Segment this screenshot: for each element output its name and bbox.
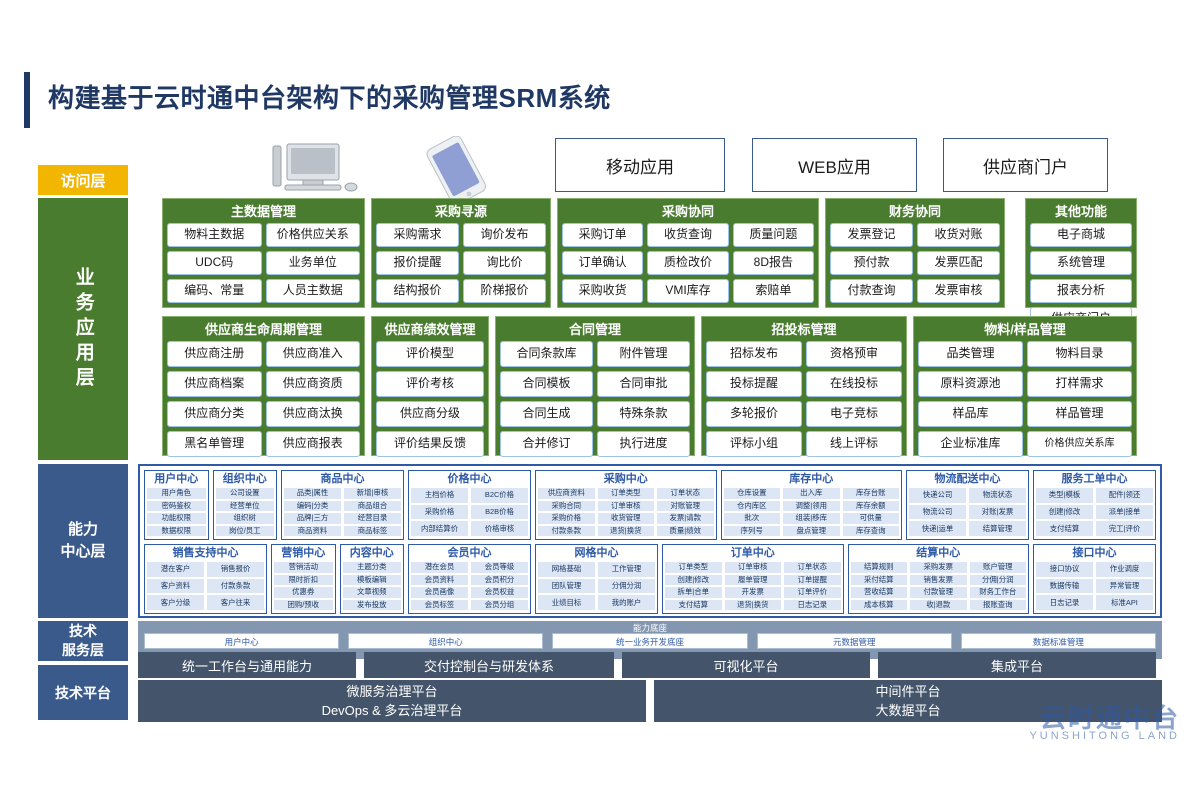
capability-column: 接口协议数据传输日志记录 (1036, 562, 1093, 610)
capability-item[interactable]: 订单类型 (598, 488, 655, 499)
business-item[interactable]: 评价考核 (376, 371, 484, 397)
capability-card: 网格中心网格基础团队管理业绩目标工作管理分佣分润我的账户 (535, 544, 658, 614)
capability-item[interactable]: 组装|移库 (783, 513, 840, 524)
business-item[interactable]: 特殊条款 (597, 401, 690, 427)
business-item[interactable]: 合同模板 (500, 371, 593, 397)
capability-item[interactable]: 工作管理 (598, 562, 655, 577)
capability-item[interactable]: 用户角色 (147, 488, 206, 499)
capability-item[interactable]: 功能权限 (147, 513, 206, 524)
capability-item[interactable]: 退货|换货 (598, 526, 655, 537)
business-panel-grid: 合同条款库附件管理合同模板合同审批合同生成特殊条款合并修订执行进度 (500, 341, 690, 457)
business-panel-grid: 品类管理物料目录原料资源池打样需求样品库样品管理企业标准库价格供应关系库 (918, 341, 1132, 457)
business-item[interactable]: 询比价 (463, 251, 546, 275)
capability-item[interactable]: 序列号 (724, 526, 781, 537)
capability-card-columns: 订单类型创建|修改拆单|合单支付结算订单审核履单管理开发票退货|换货订单状态订单… (665, 562, 841, 610)
capability-card: 物流配送中心快递公司物流公司快递|运单物流状态对账|发票结算管理 (906, 470, 1029, 540)
capability-item[interactable]: 订单状态 (784, 562, 841, 573)
capability-column: B2C价格B2B价格价格审核 (471, 488, 528, 536)
capability-item[interactable]: 对账管理 (657, 501, 714, 512)
capability-column: 销售报价付款条款客户往来 (207, 562, 264, 610)
business-item[interactable]: 评标小组 (706, 431, 802, 457)
capability-item[interactable]: 作业调度 (1096, 562, 1153, 577)
layer-label-tech-service: 技术 服务层 (38, 621, 128, 661)
capability-card: 采购中心供应商资料采购合同采购价格付款条款订单类型订单审核收货管理退货|换货订单… (535, 470, 717, 540)
capability-item[interactable]: 订单提醒 (784, 575, 841, 586)
capability-card: 接口中心接口协议数据传输日志记录作业调度异常管理标准API (1033, 544, 1156, 614)
capability-column: 会员等级会员积分会员权益会员分组 (471, 562, 528, 610)
capability-item[interactable]: 销售报价 (207, 562, 264, 577)
capability-item[interactable]: 采购发票 (910, 562, 967, 573)
tech-service-item[interactable]: 元数据管理 (757, 633, 952, 649)
capability-item[interactable]: 结算规则 (851, 562, 908, 573)
capability-item[interactable]: 数据传输 (1036, 579, 1093, 594)
layer-label-tech-service-line1: 技术 (62, 622, 104, 641)
business-panel-grid: 采购需求询价发布报价提醒询比价结构报价阶梯报价 (376, 223, 546, 303)
capability-item[interactable]: 账户管理 (970, 562, 1027, 573)
capability-column: 订单类型创建|修改拆单|合单支付结算 (665, 562, 722, 610)
business-panel-title: 供应商绩效管理 (376, 321, 484, 338)
capability-item[interactable]: 优惠券 (274, 587, 333, 598)
business-item[interactable]: 价格供应关系 (266, 223, 361, 247)
capability-column: 仓库设置仓内库区批次序列号 (724, 488, 781, 536)
tech-service-item[interactable]: 数据标准管理 (961, 633, 1156, 649)
business-item[interactable]: 黑名单管理 (167, 431, 262, 457)
capability-card-columns: 供应商资料采购合同采购价格付款条款订单类型订单审核收货管理退货|换货订单状态对账… (538, 488, 714, 536)
capability-card: 销售支持中心潜在客户客户资料客户分级销售报价付款条款客户往来 (144, 544, 267, 614)
capability-item[interactable]: 配件|领还 (1096, 488, 1153, 503)
business-item[interactable]: 样品库 (918, 401, 1023, 427)
capability-card-columns: 接口协议数据传输日志记录作业调度异常管理标准API (1036, 562, 1153, 610)
capability-card: 商品中心品类|属性编码|分类品牌|三方商品资料新增|审核商品组合经营目录商品标签 (281, 470, 404, 540)
capability-item[interactable]: 主档价格 (411, 488, 468, 503)
capability-card: 库存中心仓库设置仓内库区批次序列号出入库调整|领用组装|移库盘点管理库存台账库存… (721, 470, 903, 540)
business-panel-grid: 供应商注册供应商准入供应商档案供应商资质供应商分类供应商汰换黑名单管理供应商报表 (167, 341, 360, 457)
business-item[interactable]: 企业标准库 (918, 431, 1023, 457)
capability-item[interactable]: 销售发票 (910, 575, 967, 586)
business-panel-grid: 物料主数据价格供应关系UDC码业务单位编码、常量人员主数据 (167, 223, 360, 303)
capability-item[interactable]: 业绩目标 (538, 595, 595, 610)
capability-item[interactable]: 限时折扣 (274, 575, 333, 586)
capability-item[interactable]: 仓库设置 (724, 488, 781, 499)
capability-column: 潜在客户客户资料客户分级 (147, 562, 204, 610)
platform-group-line: 大数据平台 (875, 701, 940, 721)
capability-item[interactable]: 拆单|合单 (665, 587, 722, 598)
capability-item[interactable]: 团队管理 (538, 579, 595, 594)
capability-card: 内容中心主题分类模板编辑文章视频发布投放 (340, 544, 405, 614)
business-item[interactable]: 8D报告 (733, 251, 814, 275)
capability-item[interactable]: 创建|修改 (1036, 505, 1093, 520)
watermark-line1: 云时通中台 (1029, 705, 1180, 731)
capability-item[interactable]: 订单类型 (665, 562, 722, 573)
business-panel-title: 物料/样品管理 (918, 321, 1132, 338)
capability-item[interactable]: 库存余额 (843, 501, 900, 512)
business-item[interactable]: 阶梯报价 (463, 279, 546, 303)
access-app-web-label: WEB应用 (798, 153, 871, 178)
business-item[interactable]: VMI库存 (647, 279, 728, 303)
capability-item[interactable]: 付款条款 (207, 579, 264, 594)
capability-column: 配件|领还派单|接单完工|评价 (1096, 488, 1153, 536)
capability-card-columns: 主题分类模板编辑文章视频发布投放 (343, 562, 402, 610)
capability-item[interactable]: B2C价格 (471, 488, 528, 503)
capability-item[interactable]: 分佣分润 (598, 579, 655, 594)
capability-item[interactable]: 会员资料 (411, 575, 468, 586)
access-app-web[interactable]: WEB应用 (752, 138, 917, 192)
capability-column: 工作管理分佣分润我的账户 (598, 562, 655, 610)
capability-column: 品类|属性编码|分类品牌|三方商品资料 (284, 488, 341, 536)
capability-item[interactable]: 内部结算价 (411, 521, 468, 536)
capability-item[interactable]: 结算管理 (969, 521, 1026, 536)
capability-item[interactable]: 物流公司 (909, 505, 966, 520)
capability-item[interactable]: 退货|换货 (725, 600, 782, 611)
capability-card: 服务工单中心类型|模板创建|修改支付结算配件|领还派单|接单完工|评价 (1033, 470, 1156, 540)
capability-item[interactable]: 可供量 (843, 513, 900, 524)
capability-item[interactable]: 发布投放 (343, 600, 402, 611)
capability-item[interactable]: 客户分级 (147, 595, 204, 610)
business-item[interactable]: 合并修订 (500, 431, 593, 457)
business-item[interactable]: 采购收货 (562, 279, 643, 303)
capability-item[interactable]: 库存台账 (843, 488, 900, 499)
business-item[interactable]: 采购需求 (376, 223, 459, 247)
capability-card: 营销中心营销活动限时折扣优惠券团购/预收 (271, 544, 336, 614)
business-item[interactable]: 评价结果反馈 (376, 431, 484, 457)
business-item[interactable]: 询价发布 (463, 223, 546, 247)
capability-item[interactable]: 日志记录 (1036, 595, 1093, 610)
capability-item[interactable]: 履单管理 (725, 575, 782, 586)
capability-card-columns: 公司设置经营单位组织树岗位/员工 (216, 488, 275, 536)
business-item[interactable]: 供应商准入 (266, 341, 361, 367)
capability-item[interactable]: 出入库 (783, 488, 840, 499)
capability-item[interactable]: 采付结算 (851, 575, 908, 586)
business-item[interactable]: 线上评标 (806, 431, 902, 457)
business-item[interactable]: 打样需求 (1027, 371, 1132, 397)
business-panel-title: 其他功能 (1030, 203, 1132, 220)
capability-item[interactable]: 发票|请款 (657, 513, 714, 524)
business-item[interactable]: 质检改价 (647, 251, 728, 275)
page-title: 构建基于云时通中台架构下的采购管理SRM系统 (48, 78, 611, 115)
platform-group-line: 中间件平台 (875, 682, 940, 702)
capability-item[interactable]: 完工|评价 (1096, 521, 1153, 536)
capability-column: 用户角色密码鉴权功能权限数据权限 (147, 488, 206, 536)
business-panel: 其他功能电子商城系统管理报表分析供应商门户 (1025, 198, 1137, 308)
capability-item[interactable]: 标准API (1096, 595, 1153, 610)
capability-item[interactable]: 订单审核 (725, 562, 782, 573)
business-panel: 供应商生命周期管理供应商注册供应商准入供应商档案供应商资质供应商分类供应商汰换黑… (162, 316, 365, 456)
business-panel-title: 招投标管理 (706, 321, 902, 338)
business-item[interactable]: 预付款 (830, 251, 913, 275)
capability-card-title: 库存中心 (724, 473, 900, 486)
business-item[interactable]: 电子竞标 (806, 401, 902, 427)
business-panel-title: 财务协同 (830, 203, 1000, 220)
capability-column: 出入库调整|领用组装|移库盘点管理 (783, 488, 840, 536)
platform-group-line: DevOps & 多云治理平台 (322, 701, 463, 721)
capability-item[interactable]: 订单评价 (784, 587, 841, 598)
capability-card-title: 组织中心 (216, 473, 275, 486)
capability-item[interactable]: 文章视频 (343, 587, 402, 598)
business-item[interactable]: 收货查询 (647, 223, 728, 247)
business-item[interactable]: 质量问题 (733, 223, 814, 247)
capability-column: 主档价格采购价格内部结算价 (411, 488, 468, 536)
capability-column: 新增|审核商品组合经营目录商品标签 (344, 488, 401, 536)
capability-item[interactable]: 会员分组 (471, 600, 528, 611)
business-item[interactable]: 供应商汰换 (266, 401, 361, 427)
business-item[interactable]: 报表分析 (1030, 279, 1132, 303)
capability-card-title: 销售支持中心 (147, 547, 264, 560)
business-item[interactable]: 供应商分类 (167, 401, 262, 427)
capability-card-title: 营销中心 (274, 547, 333, 560)
desktop-computer-icon (255, 140, 365, 198)
business-item[interactable]: 资格预审 (806, 341, 902, 367)
capability-item[interactable]: 快递公司 (909, 488, 966, 503)
capability-item[interactable]: 日志记录 (784, 600, 841, 611)
capability-item[interactable]: 付款管理 (910, 587, 967, 598)
capability-card-title: 结算中心 (851, 547, 1027, 560)
capability-card-columns: 潜在会员会员资料会员画像会员标签会员等级会员积分会员权益会员分组 (411, 562, 528, 610)
capability-column: 订单类型订单审核收货管理退货|换货 (598, 488, 655, 536)
capability-item[interactable]: 支付结算 (665, 600, 722, 611)
business-item[interactable]: 品类管理 (918, 341, 1023, 367)
capability-column: 网格基础团队管理业绩目标 (538, 562, 595, 610)
capability-item[interactable]: 会员标签 (411, 600, 468, 611)
business-panel-title: 采购协同 (562, 203, 814, 220)
capability-item[interactable]: 分佣|分润 (970, 575, 1027, 586)
capability-item[interactable]: 客户资料 (147, 579, 204, 594)
capability-item[interactable]: 财务工作台 (970, 587, 1027, 598)
capability-column: 采购发票销售发票付款管理收|退款 (910, 562, 967, 610)
capability-item[interactable]: 经营单位 (216, 501, 275, 512)
capability-column: 供应商资料采购合同采购价格付款条款 (538, 488, 595, 536)
business-item[interactable]: 供应商分级 (376, 401, 484, 427)
tech-service-items: 用户中心组织中心统一业务开发底座元数据管理数据标准管理 (144, 633, 1156, 649)
platform-item[interactable]: 可视化平台 (622, 652, 870, 678)
capability-item[interactable]: 异常管理 (1096, 579, 1153, 594)
capability-item[interactable]: 商品组合 (344, 501, 401, 512)
platform-item[interactable]: 集成平台 (878, 652, 1156, 678)
capability-item[interactable]: 会员积分 (471, 575, 528, 586)
capability-item[interactable]: 付款条款 (538, 526, 595, 537)
capability-item[interactable]: 采购合同 (538, 501, 595, 512)
capability-item[interactable]: 新增|审核 (344, 488, 401, 499)
tech-service-item[interactable]: 组织中心 (348, 633, 543, 649)
capability-card-columns: 潜在客户客户资料客户分级销售报价付款条款客户往来 (147, 562, 264, 610)
access-app-mobile-label: 移动应用 (606, 153, 674, 178)
capability-item[interactable]: 快递|运单 (909, 521, 966, 536)
watermark-line2: YUNSHITONG LAND (1029, 731, 1180, 742)
access-app-supplier-portal[interactable]: 供应商门户 (943, 138, 1108, 192)
business-panel: 合同管理合同条款库附件管理合同模板合同审批合同生成特殊条款合并修订执行进度 (495, 316, 695, 456)
capability-item[interactable]: 物流状态 (969, 488, 1026, 503)
capability-center-layer: 用户中心用户角色密码鉴权功能权限数据权限组织中心公司设置经营单位组织树岗位/员工… (138, 464, 1162, 618)
capability-card-columns: 结算规则采付结算营收结算成本核算采购发票销售发票付款管理收|退款账户管理分佣|分… (851, 562, 1027, 610)
business-item[interactable]: 供应商注册 (167, 341, 262, 367)
platform-row-1: 统一工作台与通用能力交付控制台与研发体系可视化平台集成平台 (138, 652, 1162, 678)
business-item[interactable]: 编码、常量 (167, 279, 262, 303)
business-panel-grid: 电子商城系统管理报表分析供应商门户 (1030, 223, 1132, 331)
business-item[interactable]: 供应商档案 (167, 371, 262, 397)
capability-item[interactable]: 仓内库区 (724, 501, 781, 512)
layer-label-capability: 能力 中心层 (38, 464, 128, 618)
business-item[interactable]: 系统管理 (1030, 251, 1132, 275)
business-item[interactable]: 电子商城 (1030, 223, 1132, 247)
business-item[interactable]: 价格供应关系库 (1027, 431, 1132, 457)
business-item[interactable]: 发票匹配 (917, 251, 1000, 275)
layer-label-tech-platform: 技术平台 (38, 665, 128, 720)
capability-item[interactable]: 模板编辑 (343, 575, 402, 586)
capability-item[interactable]: 品牌|三方 (284, 513, 341, 524)
business-item[interactable]: 结构报价 (376, 279, 459, 303)
capability-item[interactable]: 编码|分类 (284, 501, 341, 512)
layer-label-tech-service-line2: 服务层 (62, 641, 104, 660)
business-panel-grid: 招标发布资格预审投标提醒在线投标多轮报价电子竞标评标小组线上评标 (706, 341, 902, 457)
capability-item[interactable]: 商品资料 (284, 526, 341, 537)
capability-item[interactable]: 经营目录 (344, 513, 401, 524)
business-item[interactable]: UDC码 (167, 251, 262, 275)
capability-item[interactable]: 库存查询 (843, 526, 900, 537)
capability-card: 用户中心用户角色密码鉴权功能权限数据权限 (144, 470, 209, 540)
layer-label-access: 访问层 (38, 165, 128, 195)
platform-item[interactable]: 统一工作台与通用能力 (138, 652, 356, 678)
capability-card-title: 商品中心 (284, 473, 401, 486)
business-item[interactable]: 报价提醒 (376, 251, 459, 275)
business-item[interactable]: 投标提醒 (706, 371, 802, 397)
capability-item[interactable]: 收|退款 (910, 600, 967, 611)
platform-group-line: 微服务治理平台 (346, 682, 437, 702)
capability-item[interactable]: 派单|接单 (1096, 505, 1153, 520)
capability-item[interactable]: 支付结算 (1036, 521, 1093, 536)
capability-item[interactable]: 商品标签 (344, 526, 401, 537)
capability-card-columns: 主档价格采购价格内部结算价B2C价格B2B价格价格审核 (411, 488, 528, 536)
capability-item[interactable]: 数据权限 (147, 526, 206, 537)
business-item[interactable]: 索赔单 (733, 279, 814, 303)
capability-item[interactable]: 采购价格 (538, 513, 595, 524)
capability-item[interactable]: 潜在会员 (411, 562, 468, 573)
capability-item[interactable]: B2B价格 (471, 505, 528, 520)
capability-item[interactable]: 供应商资料 (538, 488, 595, 499)
capability-column: 订单审核履单管理开发票退货|换货 (725, 562, 782, 610)
capability-item[interactable]: 会员画像 (411, 587, 468, 598)
capability-card-title: 接口中心 (1036, 547, 1153, 560)
capability-item[interactable]: 质量|绩效 (657, 526, 714, 537)
business-item[interactable]: 合同审批 (597, 371, 690, 397)
capability-item[interactable]: 类型|模板 (1036, 488, 1093, 503)
capability-card-title: 会员中心 (411, 547, 528, 560)
business-item[interactable]: 物料目录 (1027, 341, 1132, 367)
capability-item[interactable]: 采购价格 (411, 505, 468, 520)
capability-item[interactable]: 收货管理 (598, 513, 655, 524)
business-item[interactable]: 原料资源池 (918, 371, 1023, 397)
business-item[interactable]: 样品管理 (1027, 401, 1132, 427)
capability-card-columns: 快递公司物流公司快递|运单物流状态对账|发票结算管理 (909, 488, 1026, 536)
capability-item[interactable]: 盘点管理 (783, 526, 840, 537)
layer-label-capability-line2: 中心层 (60, 541, 105, 564)
capability-item[interactable]: 开发票 (725, 587, 782, 598)
capability-item[interactable]: 潜在客户 (147, 562, 204, 577)
capability-row-1: 用户中心用户角色密码鉴权功能权限数据权限组织中心公司设置经营单位组织树岗位/员工… (144, 470, 1156, 540)
capability-row-2: 销售支持中心潜在客户客户资料客户分级销售报价付款条款客户往来营销中心营销活动限时… (144, 544, 1156, 614)
capability-card: 组织中心公司设置经营单位组织树岗位/员工 (213, 470, 278, 540)
capability-column: 公司设置经营单位组织树岗位/员工 (216, 488, 275, 536)
business-item[interactable]: 执行进度 (597, 431, 690, 457)
capability-item[interactable]: 客户往来 (207, 595, 264, 610)
capability-item[interactable]: 接口协议 (1036, 562, 1093, 577)
business-panel: 财务协同发票登记收货对账预付款发票匹配付款查询发票审核 (825, 198, 1005, 308)
capability-item[interactable]: 订单状态 (657, 488, 714, 499)
access-app-mobile[interactable]: 移动应用 (555, 138, 725, 192)
business-item[interactable]: 发票审核 (917, 279, 1000, 303)
capability-item[interactable]: 营收结算 (851, 587, 908, 598)
business-item[interactable]: 业务单位 (266, 251, 361, 275)
business-item[interactable]: 附件管理 (597, 341, 690, 367)
capability-card-columns: 仓库设置仓内库区批次序列号出入库调整|领用组装|移库盘点管理库存台账库存余额可供… (724, 488, 900, 536)
tech-service-item[interactable]: 统一业务开发底座 (552, 633, 747, 649)
capability-column: 作业调度异常管理标准API (1096, 562, 1153, 610)
business-item[interactable]: 人员主数据 (266, 279, 361, 303)
business-item[interactable]: 收货对账 (917, 223, 1000, 247)
capability-item[interactable]: 批次 (724, 513, 781, 524)
capability-item[interactable]: 调整|领用 (783, 501, 840, 512)
capability-item[interactable]: 组织树 (216, 513, 275, 524)
capability-item[interactable]: 会员权益 (471, 587, 528, 598)
capability-item[interactable]: 主题分类 (343, 562, 402, 573)
business-item[interactable]: 招标发布 (706, 341, 802, 367)
capability-item[interactable]: 岗位/员工 (216, 526, 275, 537)
capability-item[interactable]: 公司设置 (216, 488, 275, 499)
business-item[interactable]: 合同条款库 (500, 341, 593, 367)
business-item[interactable]: 合同生成 (500, 401, 593, 427)
capability-item[interactable]: 价格审核 (471, 521, 528, 536)
capability-card-columns: 营销活动限时折扣优惠券团购/预收 (274, 562, 333, 610)
capability-item[interactable]: 成本核算 (851, 600, 908, 611)
business-item[interactable]: 多轮报价 (706, 401, 802, 427)
capability-card-columns: 类型|模板创建|修改支付结算配件|领还派单|接单完工|评价 (1036, 488, 1153, 536)
capability-card-title: 网格中心 (538, 547, 655, 560)
capability-item[interactable]: 创建|修改 (665, 575, 722, 586)
business-item[interactable]: 采购订单 (562, 223, 643, 247)
capability-item[interactable]: 营销活动 (274, 562, 333, 573)
business-item[interactable]: 供应商资质 (266, 371, 361, 397)
business-item[interactable]: 供应商报表 (266, 431, 361, 457)
capability-card-title: 价格中心 (411, 473, 528, 486)
tech-service-item[interactable]: 用户中心 (144, 633, 339, 649)
capability-item[interactable]: 对账|发票 (969, 505, 1026, 520)
business-item[interactable]: 订单确认 (562, 251, 643, 275)
capability-item[interactable]: 报账查询 (970, 600, 1027, 611)
capability-column: 库存台账库存余额可供量库存查询 (843, 488, 900, 536)
business-item[interactable]: 物料主数据 (167, 223, 262, 247)
capability-item[interactable]: 密码鉴权 (147, 501, 206, 512)
business-item[interactable]: 付款查询 (830, 279, 913, 303)
capability-item[interactable]: 网格基础 (538, 562, 595, 577)
business-panel-title: 主数据管理 (167, 203, 360, 220)
capability-column: 订单状态对账管理发票|请款质量|绩效 (657, 488, 714, 536)
business-panel: 采购寻源采购需求询价发布报价提醒询比价结构报价阶梯报价 (371, 198, 551, 308)
business-item[interactable]: 评价模型 (376, 341, 484, 367)
capability-item[interactable]: 品类|属性 (284, 488, 341, 499)
capability-item[interactable]: 我的账户 (598, 595, 655, 610)
business-panel: 供应商绩效管理评价模型评价考核供应商分级评价结果反馈 (371, 316, 489, 456)
capability-card-title: 订单中心 (665, 547, 841, 560)
architecture-diagram-page: 构建基于云时通中台架构下的采购管理SRM系统 访问层 业务应用层 能力 中心层 … (0, 0, 1200, 800)
capability-column: 物流状态对账|发票结算管理 (969, 488, 1026, 536)
capability-item[interactable]: 团购/预收 (274, 600, 333, 611)
capability-item[interactable]: 会员等级 (471, 562, 528, 573)
capability-item[interactable]: 订单审核 (598, 501, 655, 512)
title-accent-bar (24, 72, 30, 128)
platform-group[interactable]: 微服务治理平台DevOps & 多云治理平台 (138, 680, 646, 722)
business-item[interactable]: 发票登记 (830, 223, 913, 247)
platform-item[interactable]: 交付控制台与研发体系 (364, 652, 614, 678)
business-item[interactable]: 在线投标 (806, 371, 902, 397)
business-panel: 采购协同采购订单收货查询质量问题订单确认质检改价8D报告采购收货VMI库存索赔单 (557, 198, 819, 308)
